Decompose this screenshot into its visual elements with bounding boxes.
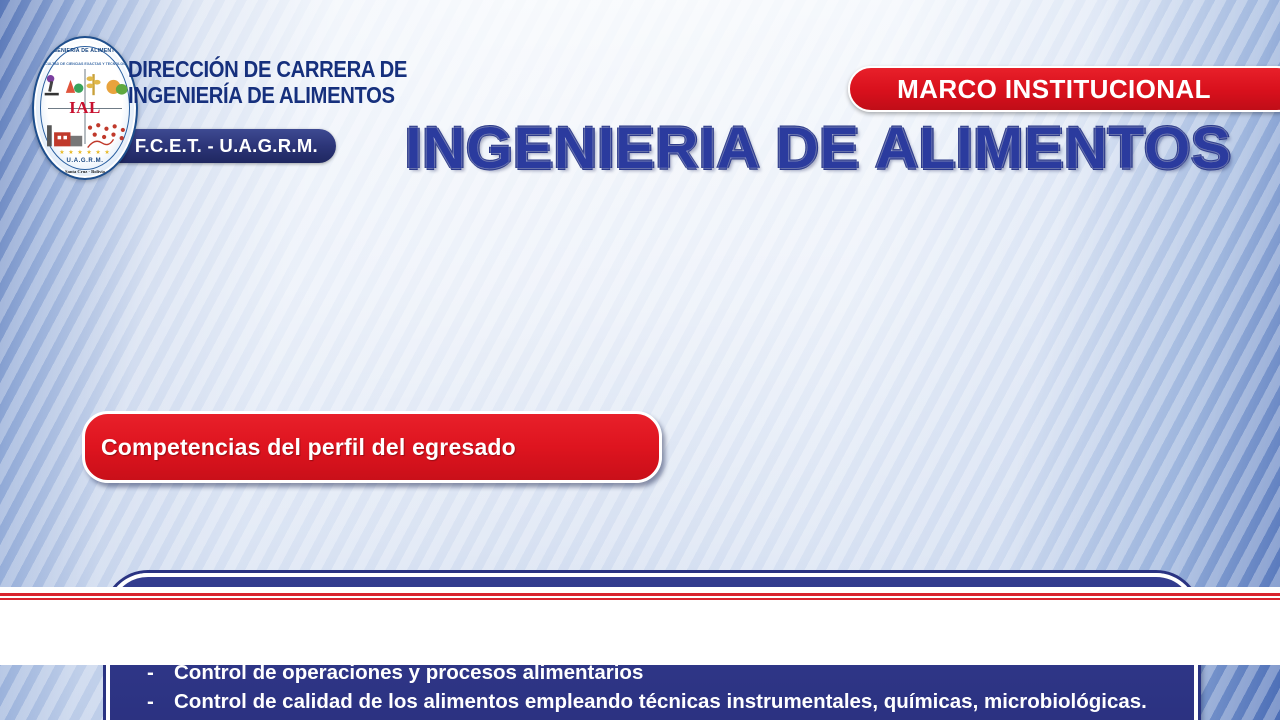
footer-background <box>0 600 1280 665</box>
page-title: INGENIERIA DE ALIMENTOS <box>0 118 1280 180</box>
section-banner: Competencias del perfil del egresado <box>82 411 662 483</box>
footer <box>0 587 1280 665</box>
footer-rule-top <box>0 593 1280 596</box>
section-banner-label: Competencias del perfil del egresado <box>101 434 516 461</box>
seal-ial-text: IAL <box>34 98 136 118</box>
marco-institucional-label: MARCO INSTITUCIONAL <box>897 74 1211 105</box>
list-item: Dirección de plantas de elaboración, de … <box>144 716 1160 720</box>
slide-root: F.C.E.T. - U.A.G.R.M. INGENIERIA DE ALIM… <box>0 0 1280 720</box>
seal-arc-top: INGENIERIA DE ALIMENTOS <box>34 48 136 54</box>
header: F.C.E.T. - U.A.G.R.M. INGENIERIA DE ALIM… <box>0 0 1280 200</box>
seal-arc-sub: FACULTAD DE CIENCIAS EXACTAS Y TECNOLOGI… <box>34 62 136 66</box>
footer-rule-bottom <box>0 598 1280 600</box>
direccion-title: DIRECCIÓN DE CARRERA DE INGENIERÍA DE AL… <box>128 56 407 108</box>
direccion-line-1: DIRECCIÓN DE CARRERA DE <box>128 56 407 82</box>
competencias-list: Control de operaciones y procesos alimen… <box>144 658 1160 720</box>
list-item: Control de calidad de los alimentos empl… <box>144 687 1160 716</box>
marco-institucional-badge: MARCO INSTITUCIONAL <box>848 66 1280 112</box>
direccion-line-2: INGENIERÍA DE ALIMENTOS <box>128 82 407 108</box>
